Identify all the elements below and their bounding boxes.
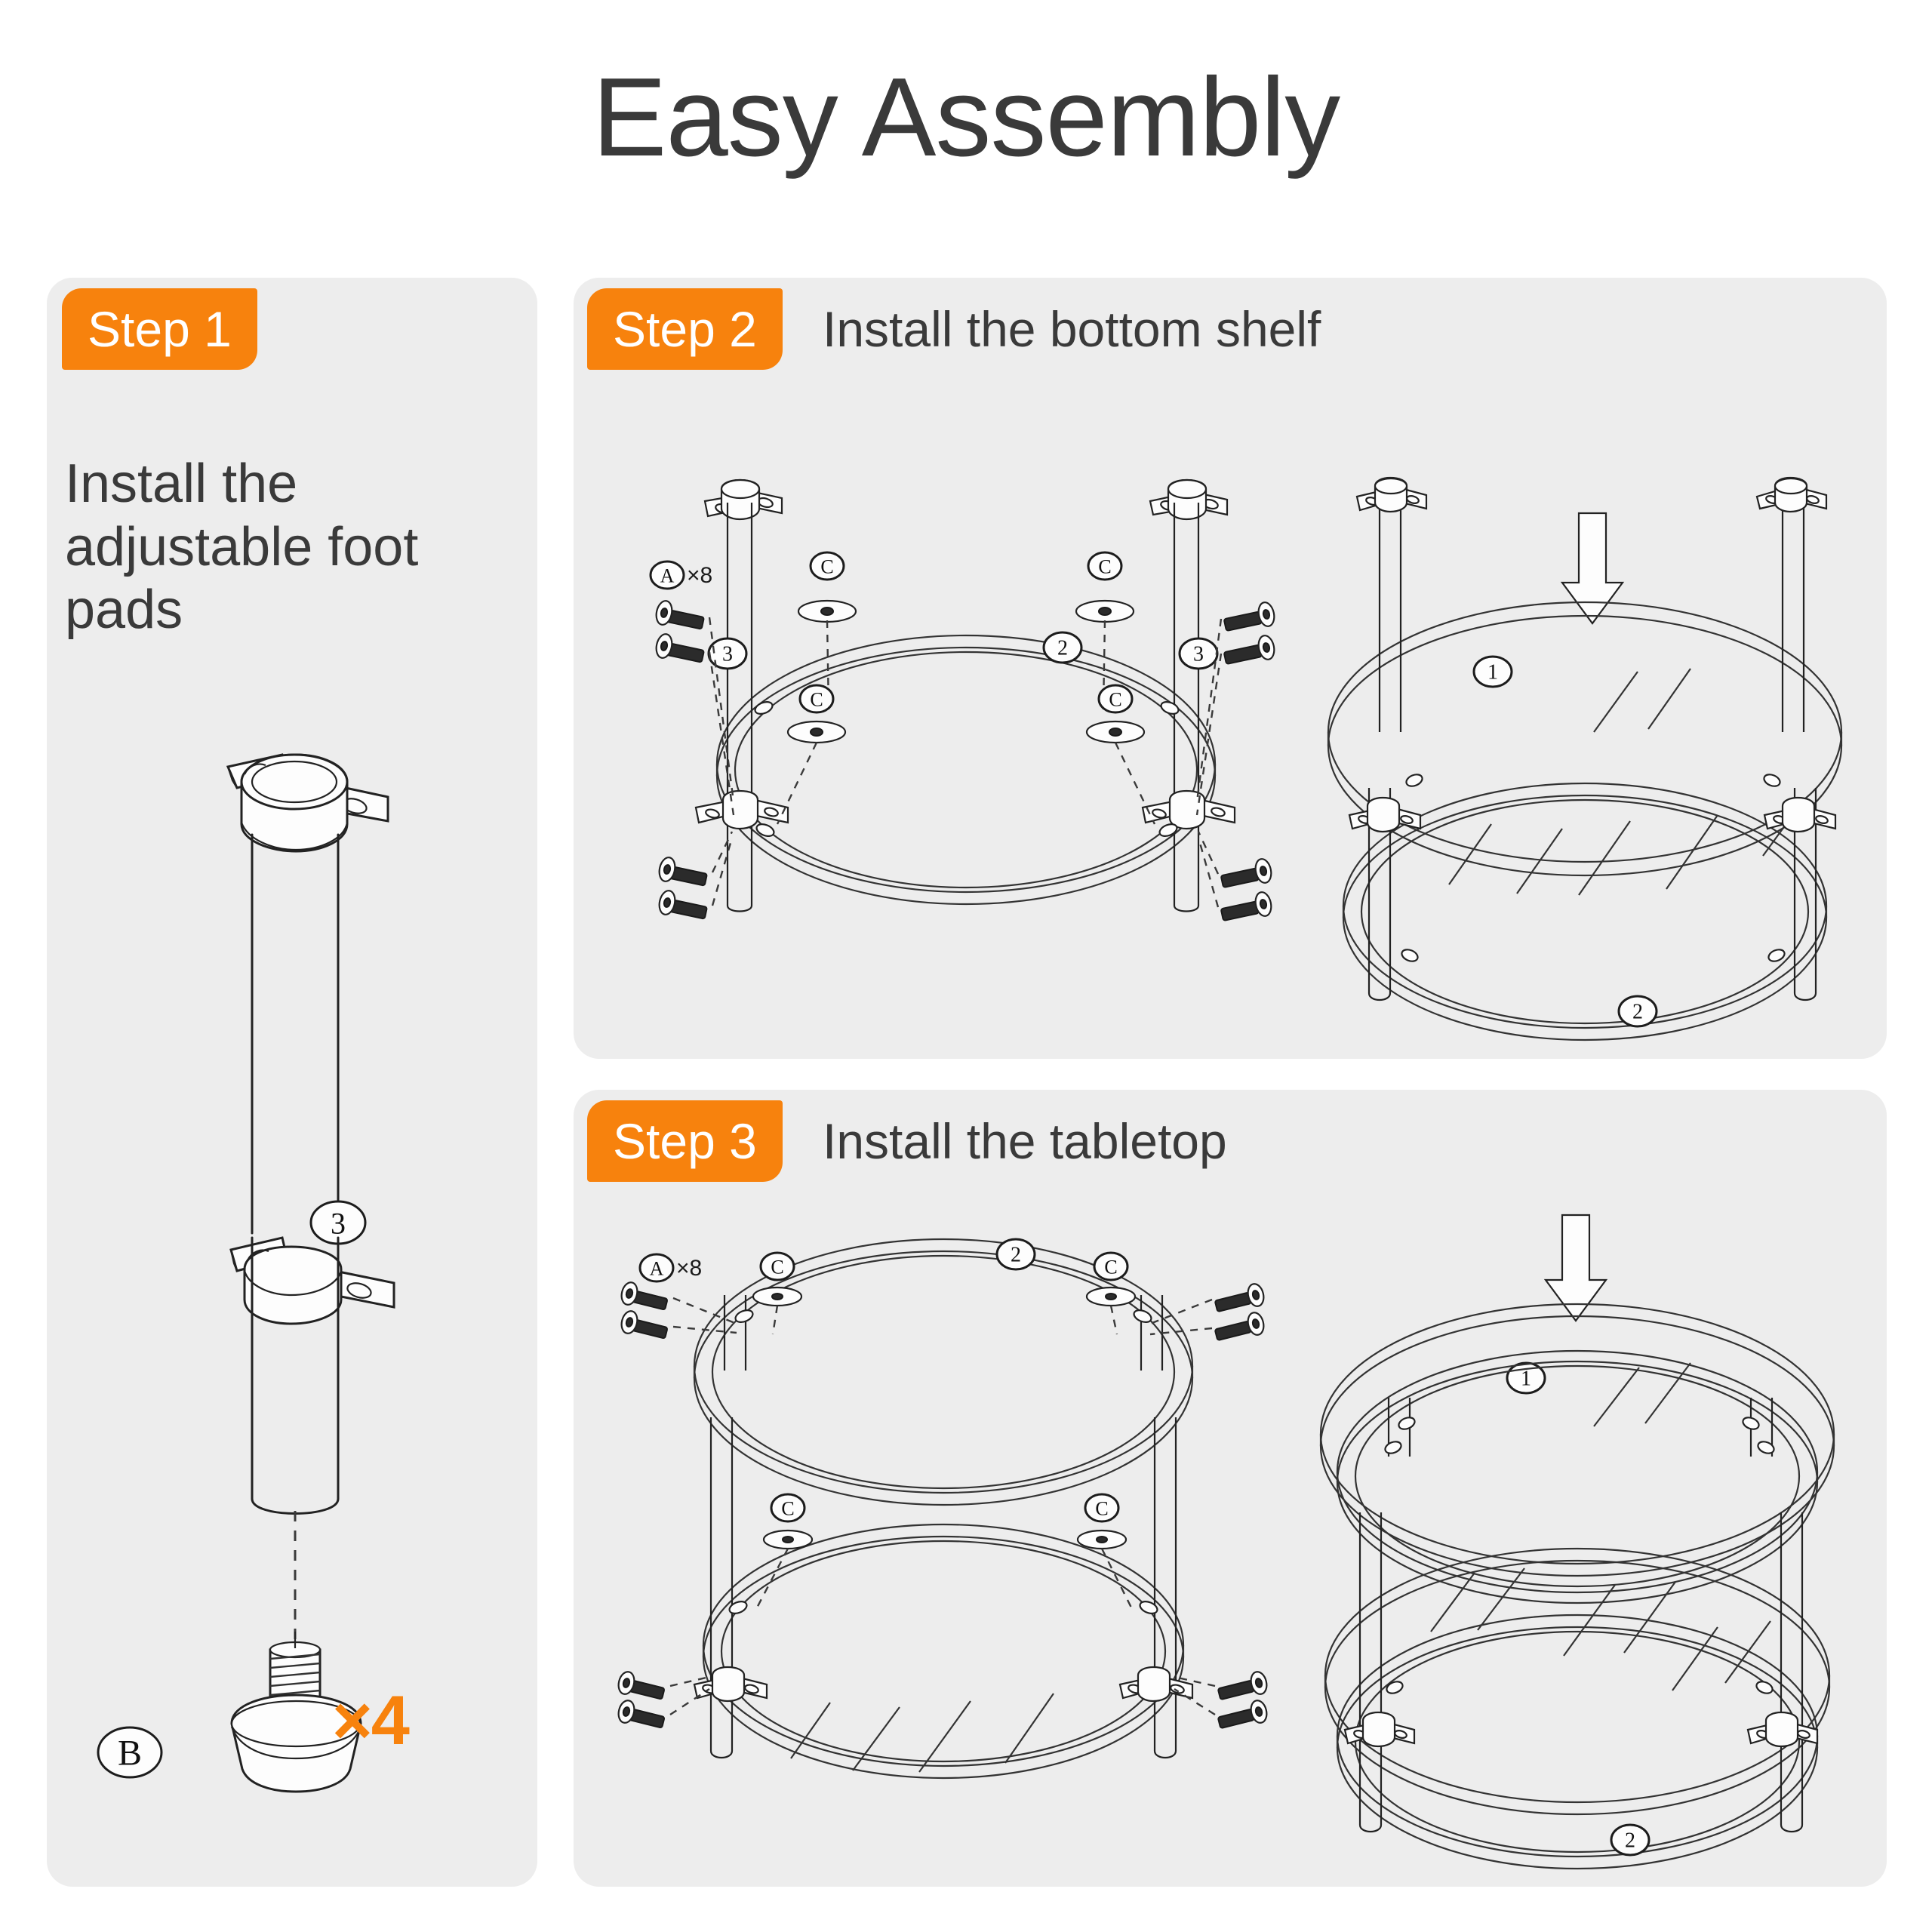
bottom-shelf-frame-exploded: 3 3 bbox=[649, 483, 1283, 1057]
callout-C-step3-lr: C bbox=[1095, 1498, 1108, 1520]
tabletop-frame-exploded: 2 bbox=[604, 1223, 1283, 1887]
screws-step3-lower-left bbox=[617, 1670, 709, 1728]
step-3-badge: Step 3 bbox=[587, 1100, 783, 1182]
callout-C-tl-text: C bbox=[820, 556, 833, 578]
callout-top-ring-2: 2 bbox=[997, 1239, 1035, 1269]
screws-lower-left bbox=[657, 832, 732, 919]
callout-ring-2b: 2 bbox=[1619, 996, 1657, 1026]
callout-C-bl-text: C bbox=[810, 689, 823, 711]
legs-step3 bbox=[711, 1295, 1176, 1758]
top-ring-assembled bbox=[1337, 1351, 1817, 1603]
callout-bottom-ring-2: 2 bbox=[1611, 1825, 1649, 1855]
callout-A-step3-text: A bbox=[650, 1258, 664, 1280]
assembly-instruction-page: Easy Assembly Step 1 Install the adjusta… bbox=[0, 0, 1932, 1932]
step-2-heading: Install the bottom shelf bbox=[823, 288, 1321, 370]
glass-shelf-middle bbox=[1325, 1549, 1829, 1814]
callout-2-text: 2 bbox=[1057, 637, 1068, 660]
step-1-badge: Step 1 bbox=[62, 288, 257, 370]
bottom-shelf-with-glass bbox=[703, 1524, 1183, 1778]
ring-mounting-lugs bbox=[753, 700, 1180, 838]
glass-tabletop: 1 bbox=[1321, 1304, 1834, 1576]
step-3-exploded-figure: 2 bbox=[604, 1223, 1283, 1887]
screw-qty-step3: ×8 bbox=[676, 1256, 702, 1281]
callout-C-br-text: C bbox=[1109, 689, 1121, 711]
callout-C-step3-ll: C bbox=[781, 1498, 794, 1520]
lower-bracket-clamp bbox=[231, 1238, 394, 1324]
step-3-assembled-figure: 1 bbox=[1298, 1207, 1887, 1887]
washer-bottom-right: C bbox=[1087, 685, 1155, 824]
screws-lower-right bbox=[1198, 832, 1273, 921]
callout-2-step3b-text: 2 bbox=[1625, 1829, 1635, 1853]
leg-tube-upper bbox=[252, 835, 338, 1233]
leg-left: 3 bbox=[696, 480, 788, 912]
washer-top-right: C bbox=[1076, 552, 1134, 709]
leg-and-footpad-drawing: 3 bbox=[47, 709, 537, 1841]
step-3-heading: Install the tabletop bbox=[823, 1100, 1227, 1182]
callout-3-left-text: 3 bbox=[722, 643, 733, 666]
callout-1-text: 1 bbox=[1487, 661, 1498, 685]
washer-step3-lower-left: C bbox=[755, 1494, 812, 1612]
quantity-x4-label: ×4 bbox=[332, 1681, 408, 1761]
step-2-exploded-figure: 3 3 bbox=[649, 483, 1283, 1057]
callout-A-ul-text: A bbox=[660, 565, 675, 587]
callout-3-text: 3 bbox=[331, 1207, 346, 1241]
washer-step3-upper-right: C bbox=[1087, 1253, 1135, 1334]
callout-part-B: B bbox=[98, 1727, 162, 1777]
callout-C-tr-text: C bbox=[1098, 556, 1111, 578]
glass-shelf-panel: 1 bbox=[1328, 602, 1841, 895]
callout-C-step3-ur: C bbox=[1104, 1257, 1117, 1278]
callout-2-top-text: 2 bbox=[1011, 1244, 1021, 1267]
washer-bottom-left: C bbox=[777, 685, 845, 824]
screw-qty-ul: ×8 bbox=[687, 563, 712, 588]
screws-step3-lower-right bbox=[1174, 1670, 1269, 1728]
callout-B-text: B bbox=[118, 1734, 142, 1774]
callout-2b-text: 2 bbox=[1632, 1001, 1643, 1024]
bottom-ring-frame bbox=[717, 635, 1215, 904]
screws-upper-right bbox=[1197, 601, 1276, 815]
callout-C-step3-ul: C bbox=[771, 1257, 783, 1278]
screws-step3-upper-left: A ×8 bbox=[620, 1254, 737, 1339]
washer-top-left: C bbox=[798, 552, 856, 709]
screws-upper-left: A ×8 bbox=[651, 561, 734, 815]
callout-ring-2: 2 bbox=[1044, 632, 1081, 663]
step-2-badge: Step 2 bbox=[587, 288, 783, 370]
tabletop-assembled: 1 bbox=[1298, 1207, 1887, 1887]
washer-step3-lower-right: C bbox=[1078, 1494, 1134, 1612]
callout-1-step3-text: 1 bbox=[1521, 1367, 1531, 1391]
page-title: Easy Assembly bbox=[0, 59, 1932, 176]
bottom-shelf-assembled: 1 2 bbox=[1313, 483, 1872, 1057]
washer-step3-upper-left: C bbox=[753, 1253, 801, 1334]
step-1-figure: 3 bbox=[47, 709, 537, 1841]
down-arrow-icon bbox=[1562, 513, 1623, 623]
callout-glass-1: 1 bbox=[1474, 657, 1512, 687]
step-1-body-text: Install the adjustable foot pads bbox=[65, 453, 495, 642]
step-2-assembled-figure: 1 2 bbox=[1313, 483, 1872, 1057]
callout-3-right-text: 3 bbox=[1193, 643, 1204, 666]
